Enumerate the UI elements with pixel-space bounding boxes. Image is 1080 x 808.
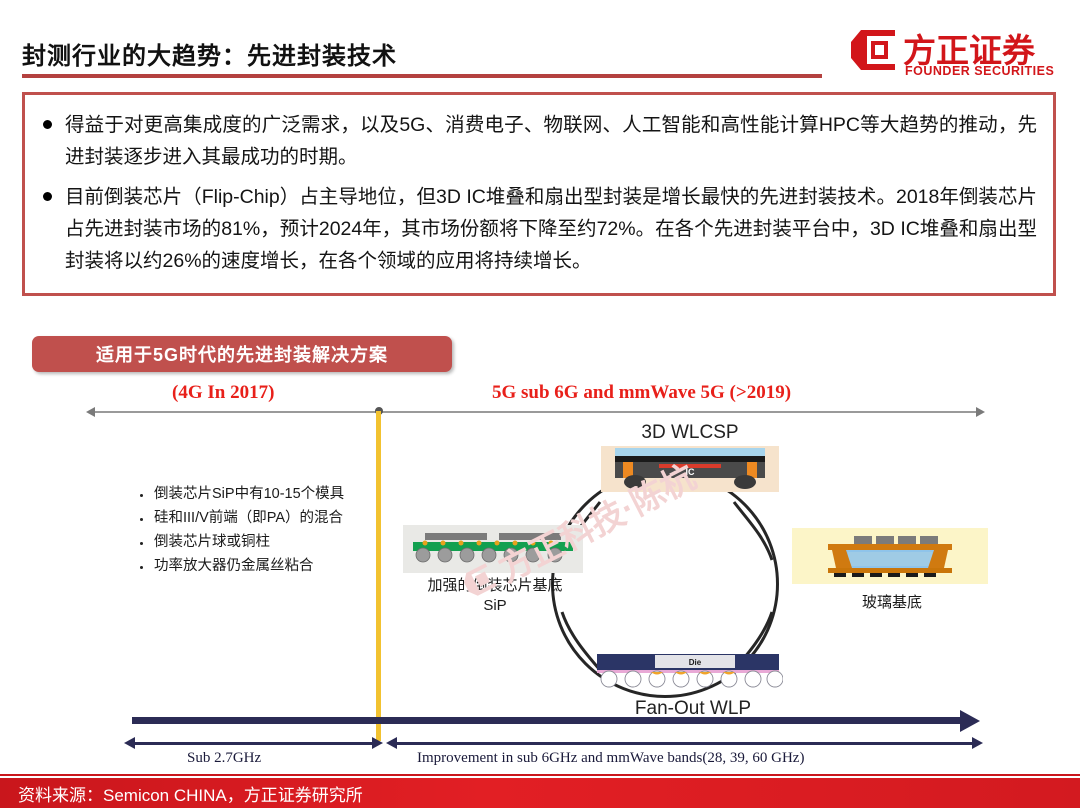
summary-bullet-item: 得益于对更高集成度的广泛需求，以及5G、消费电子、物联网、人工智能和高性能计算H…	[43, 109, 1037, 173]
page-footer: 资料来源：Semicon CHINA，方正证券研究所	[0, 778, 1080, 808]
bullet-dot-icon	[43, 192, 52, 201]
package-art-3d-wlcsp: IC	[601, 446, 779, 492]
timeline-axis	[94, 411, 978, 413]
timeline-right-arrowhead-icon	[976, 407, 985, 417]
bottom-sub-bar-right	[396, 742, 974, 745]
summary-bullet-text: 得益于对更高集成度的广泛需求，以及5G、消费电子、物联网、人工智能和高性能计算H…	[65, 109, 1037, 173]
bottom-main-bar-arrowhead-icon	[960, 710, 980, 732]
bottom-axis-left-label: Sub 2.7GHz	[187, 750, 261, 767]
list-item-label: 功率放大器仍金属丝粘合	[154, 556, 314, 577]
summary-text-box: 得益于对更高集成度的广泛需求，以及5G、消费电子、物联网、人工智能和高性能计算H…	[22, 92, 1056, 296]
section-banner-label: 适用于5G时代的先进封装解决方案	[32, 336, 452, 372]
page-header: 封测行业的大趋势：先进封装技术 方正证券 FOUNDER SECURITIES	[0, 0, 1080, 86]
svg-text:IC: IC	[686, 467, 696, 477]
list-item: 功率放大器仍金属丝粘合	[140, 556, 370, 577]
list-item-label: 倒装芯片SiP中有10-15个模具	[154, 484, 344, 505]
package-caption-wlcsp: 3D WLCSP	[610, 422, 770, 444]
svg-text:Die: Die	[689, 658, 702, 667]
footer-top-rule	[0, 774, 1080, 776]
bottom-axis-right-label: Improvement in sub 6GHz and mmWave bands…	[417, 750, 804, 767]
package-art-flipchip-sip	[403, 525, 583, 573]
summary-bullet-item: 目前倒装芯片（Flip-Chip）占主导地位，但3D IC堆叠和扇出型封装是增长…	[43, 181, 1037, 277]
era-divider-line	[376, 411, 381, 741]
timeline-right-label: 5G sub 6G and mmWave 5G (>2019)	[492, 382, 791, 404]
bottom-sub-bar-right-arrowhead-icon	[386, 737, 397, 749]
bottom-main-bar	[132, 717, 962, 724]
timeline-left-arrowhead-icon	[86, 407, 95, 417]
list-bullet-icon	[140, 566, 143, 569]
logo-english-name: FOUNDER SECURITIES	[905, 64, 1054, 78]
bottom-sub-bar-left	[134, 742, 374, 745]
package-art-fanout-wlp: Die	[593, 652, 783, 694]
list-item: 倒装芯片球或铜柱	[140, 532, 370, 553]
package-caption-glass-substrate: 玻璃基底	[817, 593, 967, 613]
package-caption-flipchip-sip: 加强的倒装芯片基底SiP	[420, 576, 570, 616]
page-title: 封测行业的大趋势：先进封装技术	[22, 36, 397, 71]
founder-logo-mark-icon	[851, 30, 895, 70]
bottom-sub-bar-right-arrowhead-icon	[972, 737, 983, 749]
advanced-packaging-diagram: (4G In 2017) 5G sub 6G and mmWave 5G (>2…	[22, 380, 1056, 770]
timeline-left-label: (4G In 2017)	[172, 382, 274, 404]
package-art-glass-substrate	[792, 528, 988, 584]
left-feature-list: 倒装芯片SiP中有10-15个模具 硅和III/V前端（即PA）的混合 倒装芯片…	[140, 484, 370, 580]
list-item-label: 倒装芯片球或铜柱	[154, 532, 270, 553]
footer-source-text: 资料来源：Semicon CHINA，方正证券研究所	[18, 781, 363, 806]
bullet-dot-icon	[43, 120, 52, 129]
bottom-sub-bar-left-arrowhead-icon	[124, 737, 135, 749]
list-bullet-icon	[140, 494, 143, 497]
title-underline-rule	[22, 74, 822, 78]
section-banner: 适用于5G时代的先进封装解决方案	[32, 336, 452, 372]
summary-bullet-text: 目前倒装芯片（Flip-Chip）占主导地位，但3D IC堆叠和扇出型封装是增长…	[65, 181, 1037, 277]
list-item: 倒装芯片SiP中有10-15个模具	[140, 484, 370, 505]
list-item-label: 硅和III/V前端（即PA）的混合	[154, 508, 343, 529]
list-bullet-icon	[140, 518, 143, 521]
company-logo: 方正证券 FOUNDER SECURITIES	[851, 28, 1066, 80]
list-bullet-icon	[140, 542, 143, 545]
list-item: 硅和III/V前端（即PA）的混合	[140, 508, 370, 529]
bottom-sub-bar-left-arrowhead-icon	[372, 737, 383, 749]
